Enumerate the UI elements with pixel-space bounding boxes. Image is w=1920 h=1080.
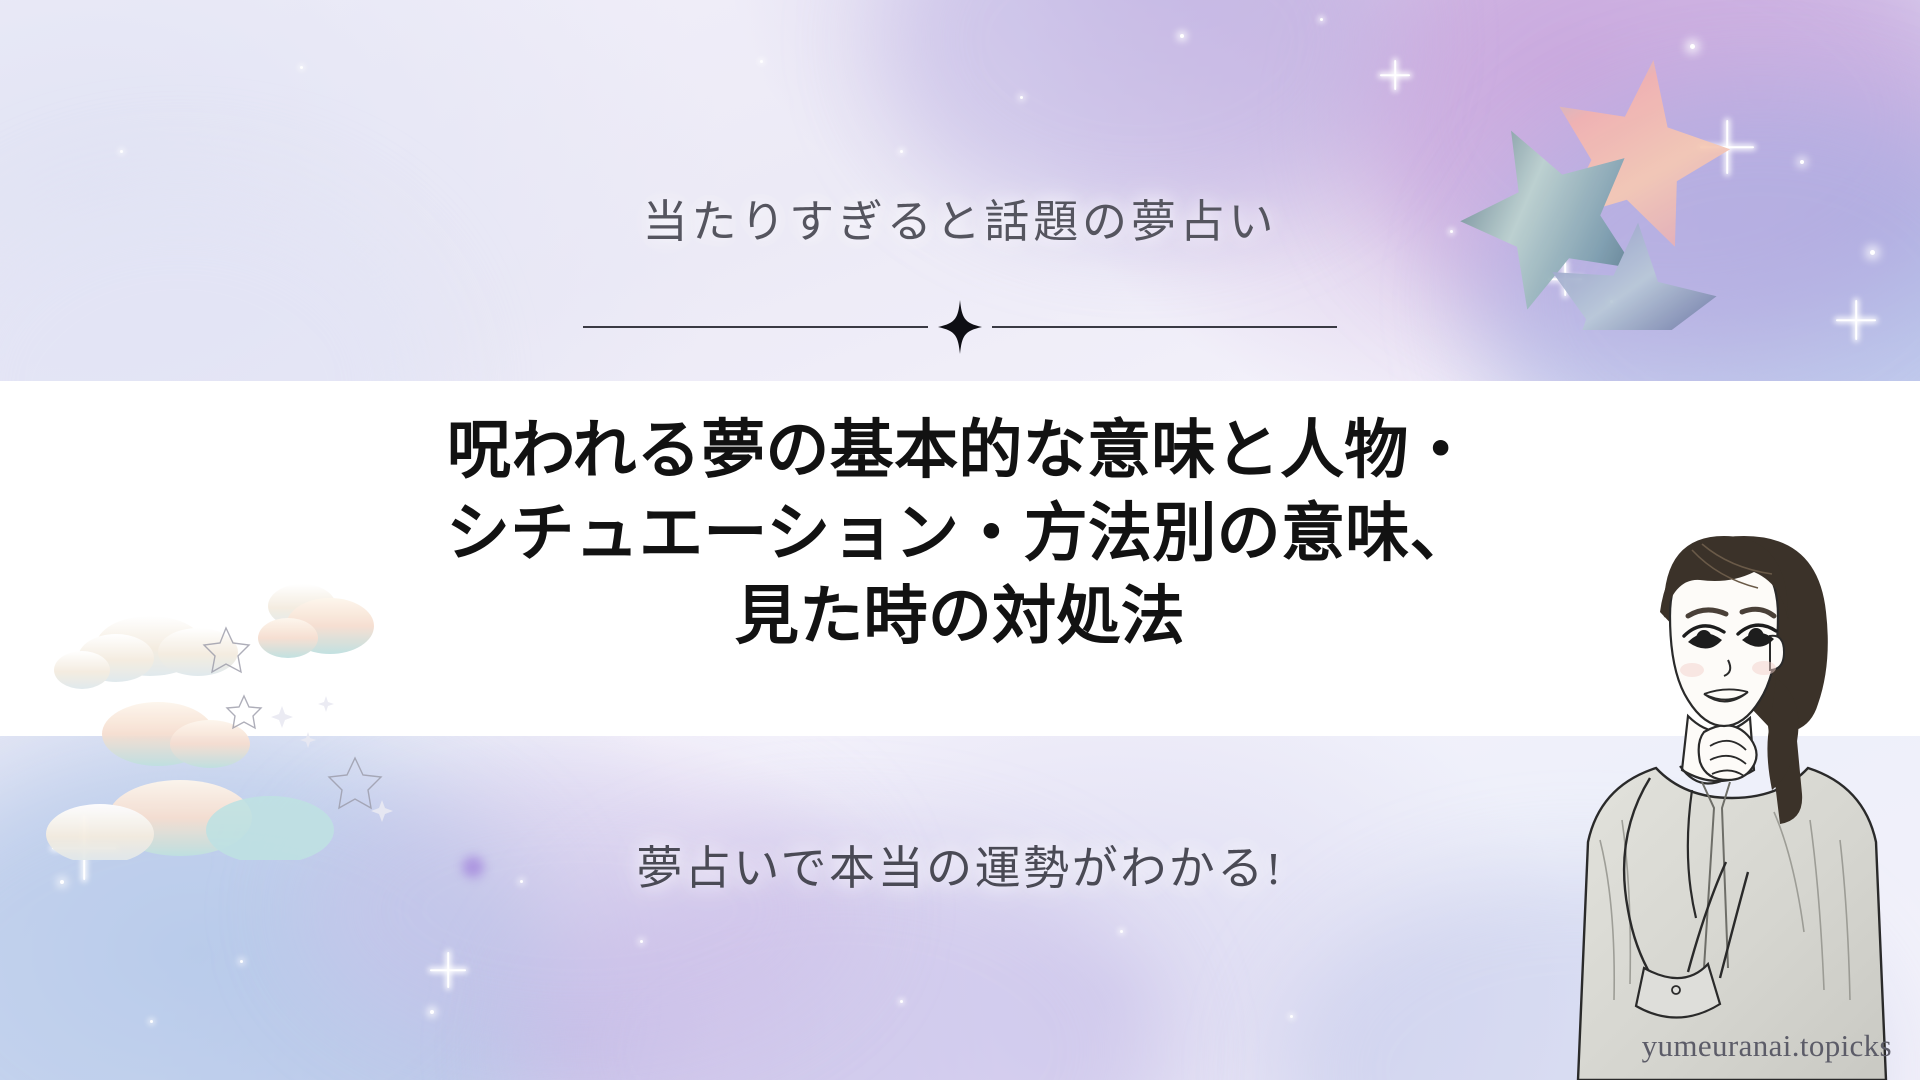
sparkle-icon: [430, 952, 466, 988]
four-point-star-icon: [938, 300, 982, 354]
bg-blotch-top-center: [880, 0, 1400, 230]
divider: [0, 300, 1920, 354]
divider-line-left: [583, 326, 928, 328]
title-line-1: 呪われる夢の基本的な意味と人物・: [0, 410, 1920, 493]
divider-line-right: [992, 326, 1337, 328]
watermark: yumeuranai.topicks: [1642, 1028, 1892, 1064]
eyebrow: 当たりすぎると話題の夢占い: [0, 198, 1920, 248]
eyecatch-banner: 当たりすぎると話題の夢占い 呪われる夢の基本的な意味と人物・ シチュエーション・…: [0, 0, 1920, 1080]
watercolor-stars-icon: [1430, 30, 1910, 330]
woman-illustration: [1552, 520, 1912, 1080]
sparkle-icon: [1380, 60, 1410, 90]
eyebrow-text: 当たりすぎると話題の夢占い: [643, 197, 1278, 247]
